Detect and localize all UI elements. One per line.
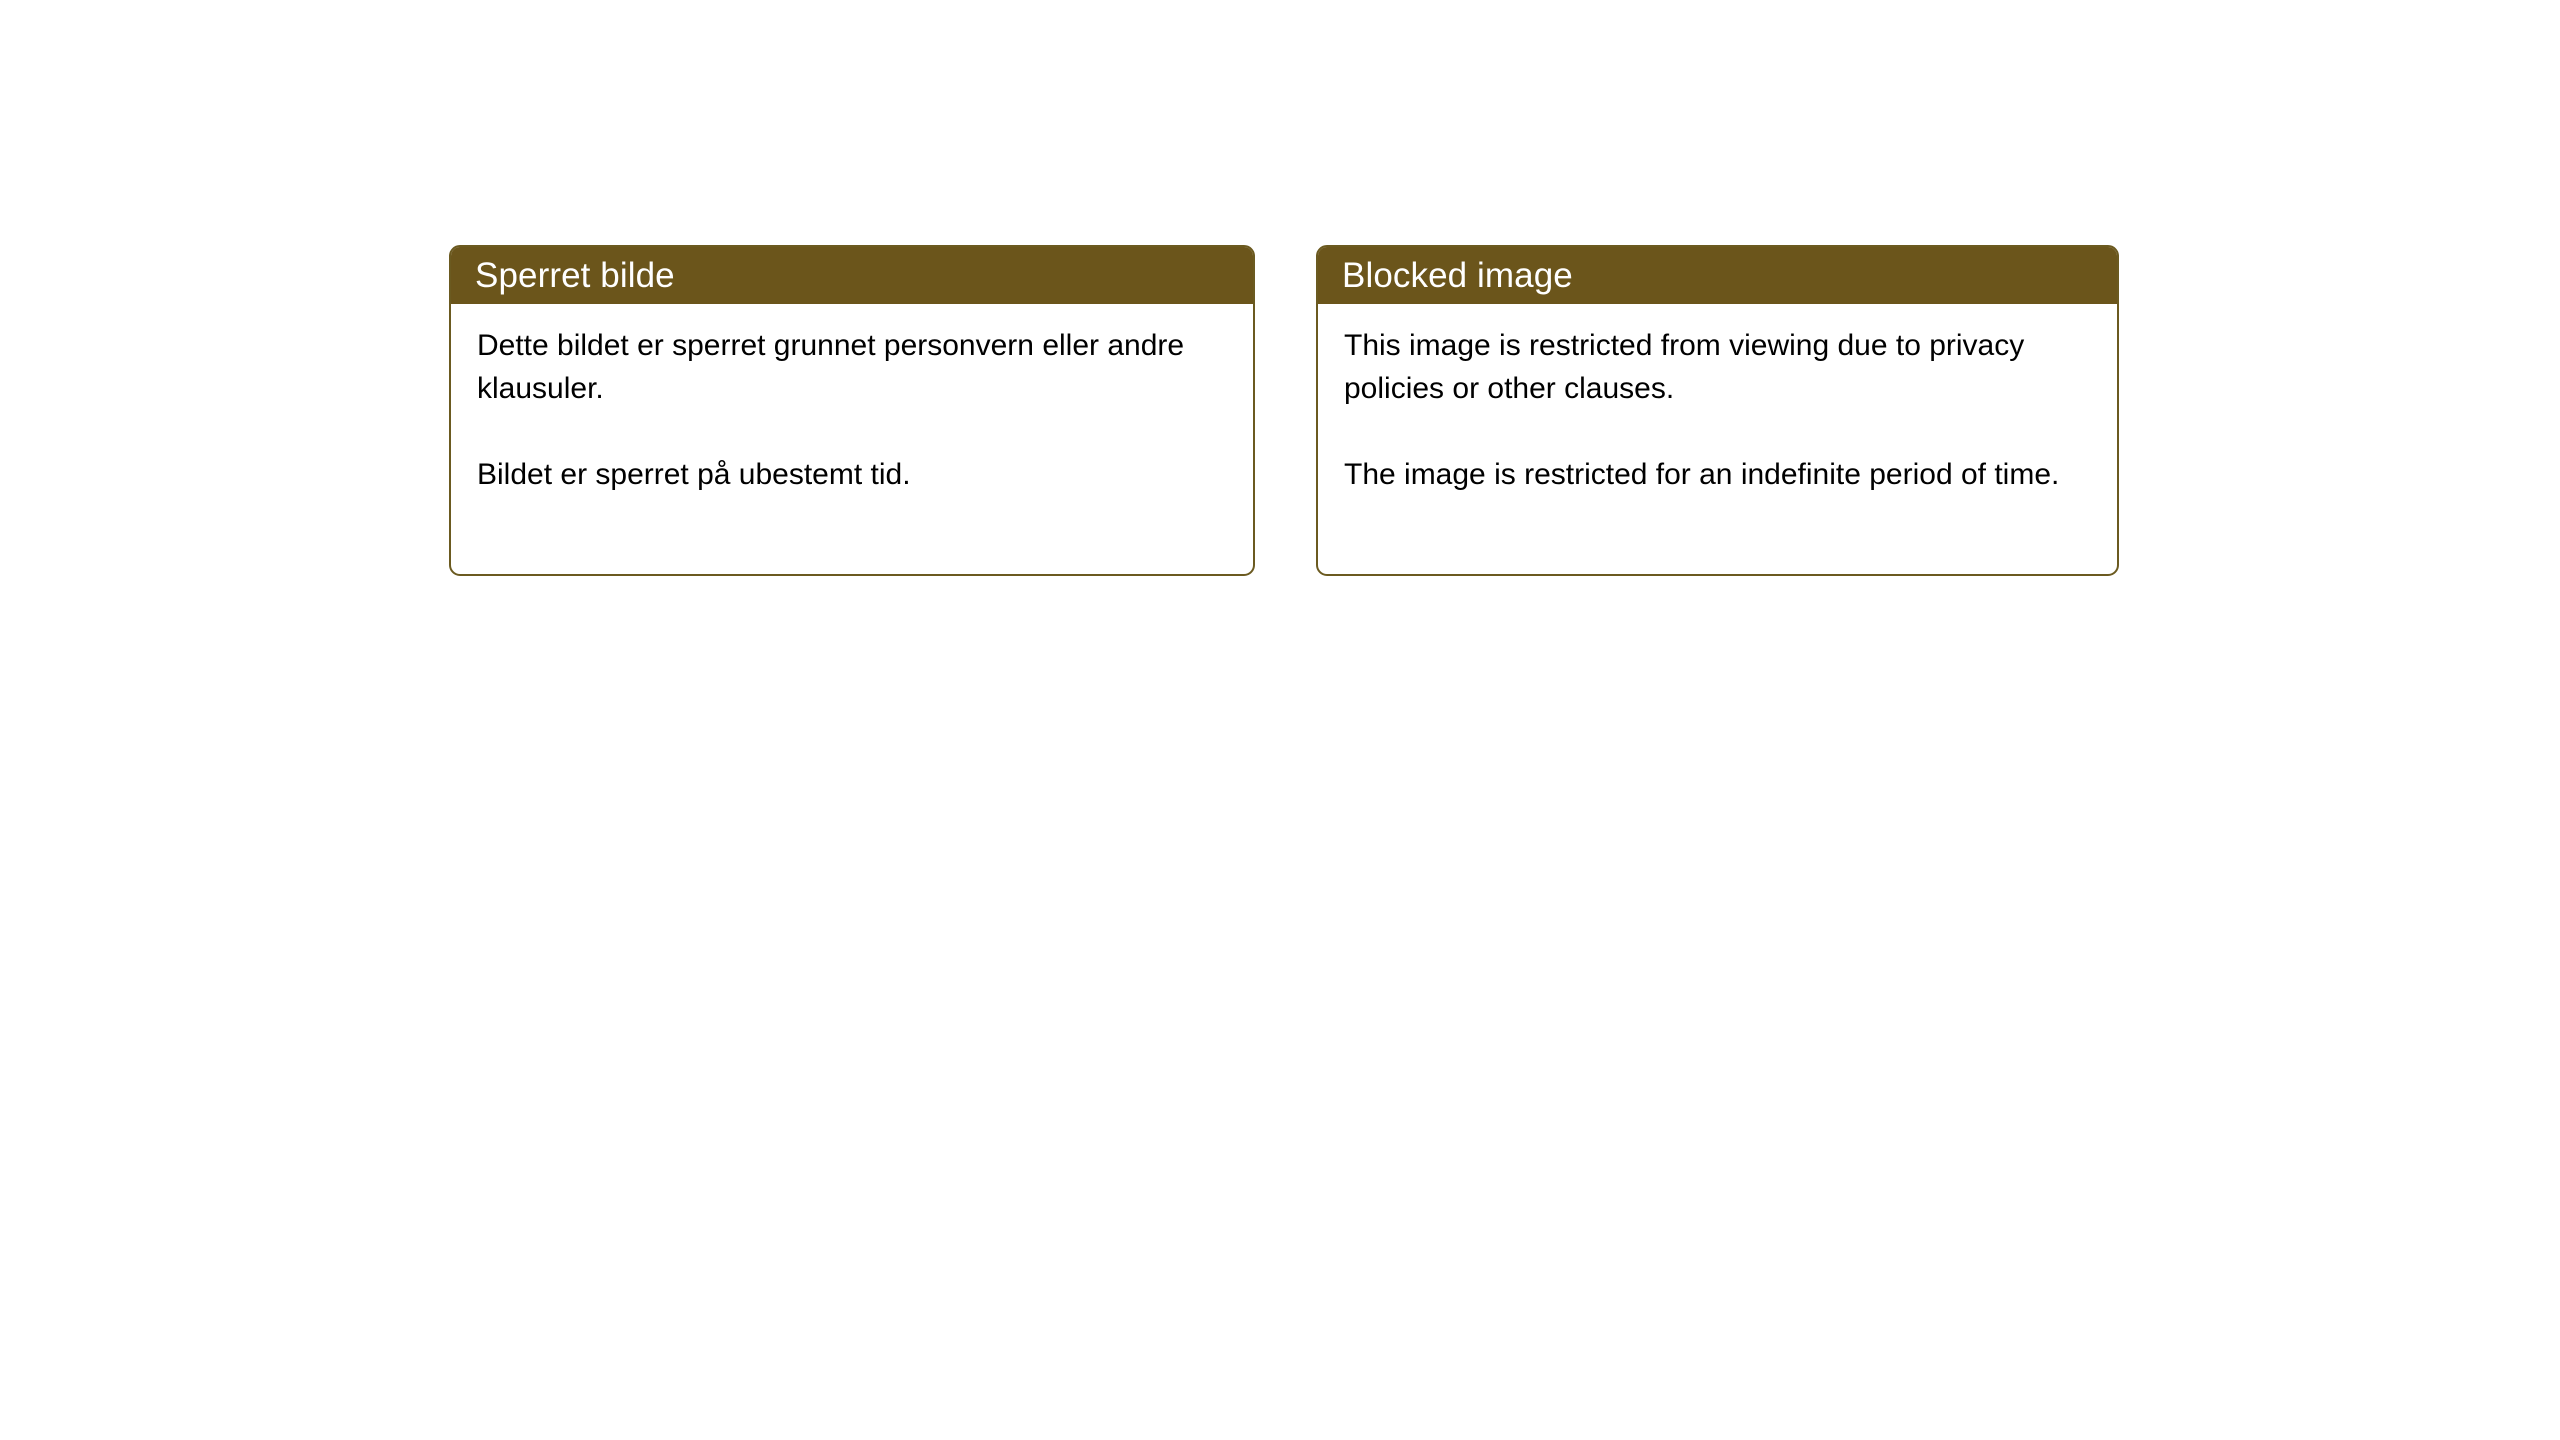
panel-paragraph-duration-norwegian: Bildet er sperret på ubestemt tid. [477,453,1229,496]
panel-title-norwegian: Sperret bilde [475,258,675,293]
panel-paragraph-reason-english: This image is restricted from viewing du… [1344,324,2093,410]
panel-body-norwegian: Dette bildet er sperret grunnet personve… [451,304,1253,496]
blocked-image-panel-norwegian: Sperret bilde Dette bildet er sperret gr… [449,245,1255,576]
panel-paragraph-reason-norwegian: Dette bildet er sperret grunnet personve… [477,324,1229,410]
blocked-image-panel-english: Blocked image This image is restricted f… [1316,245,2119,576]
panel-header-english: Blocked image [1318,247,2117,304]
panel-paragraph-duration-english: The image is restricted for an indefinit… [1344,453,2093,496]
panel-body-english: This image is restricted from viewing du… [1318,304,2117,496]
page-root: Sperret bilde Dette bildet er sperret gr… [0,0,2560,1440]
panel-header-norwegian: Sperret bilde [451,247,1253,304]
panel-title-english: Blocked image [1342,258,1573,293]
